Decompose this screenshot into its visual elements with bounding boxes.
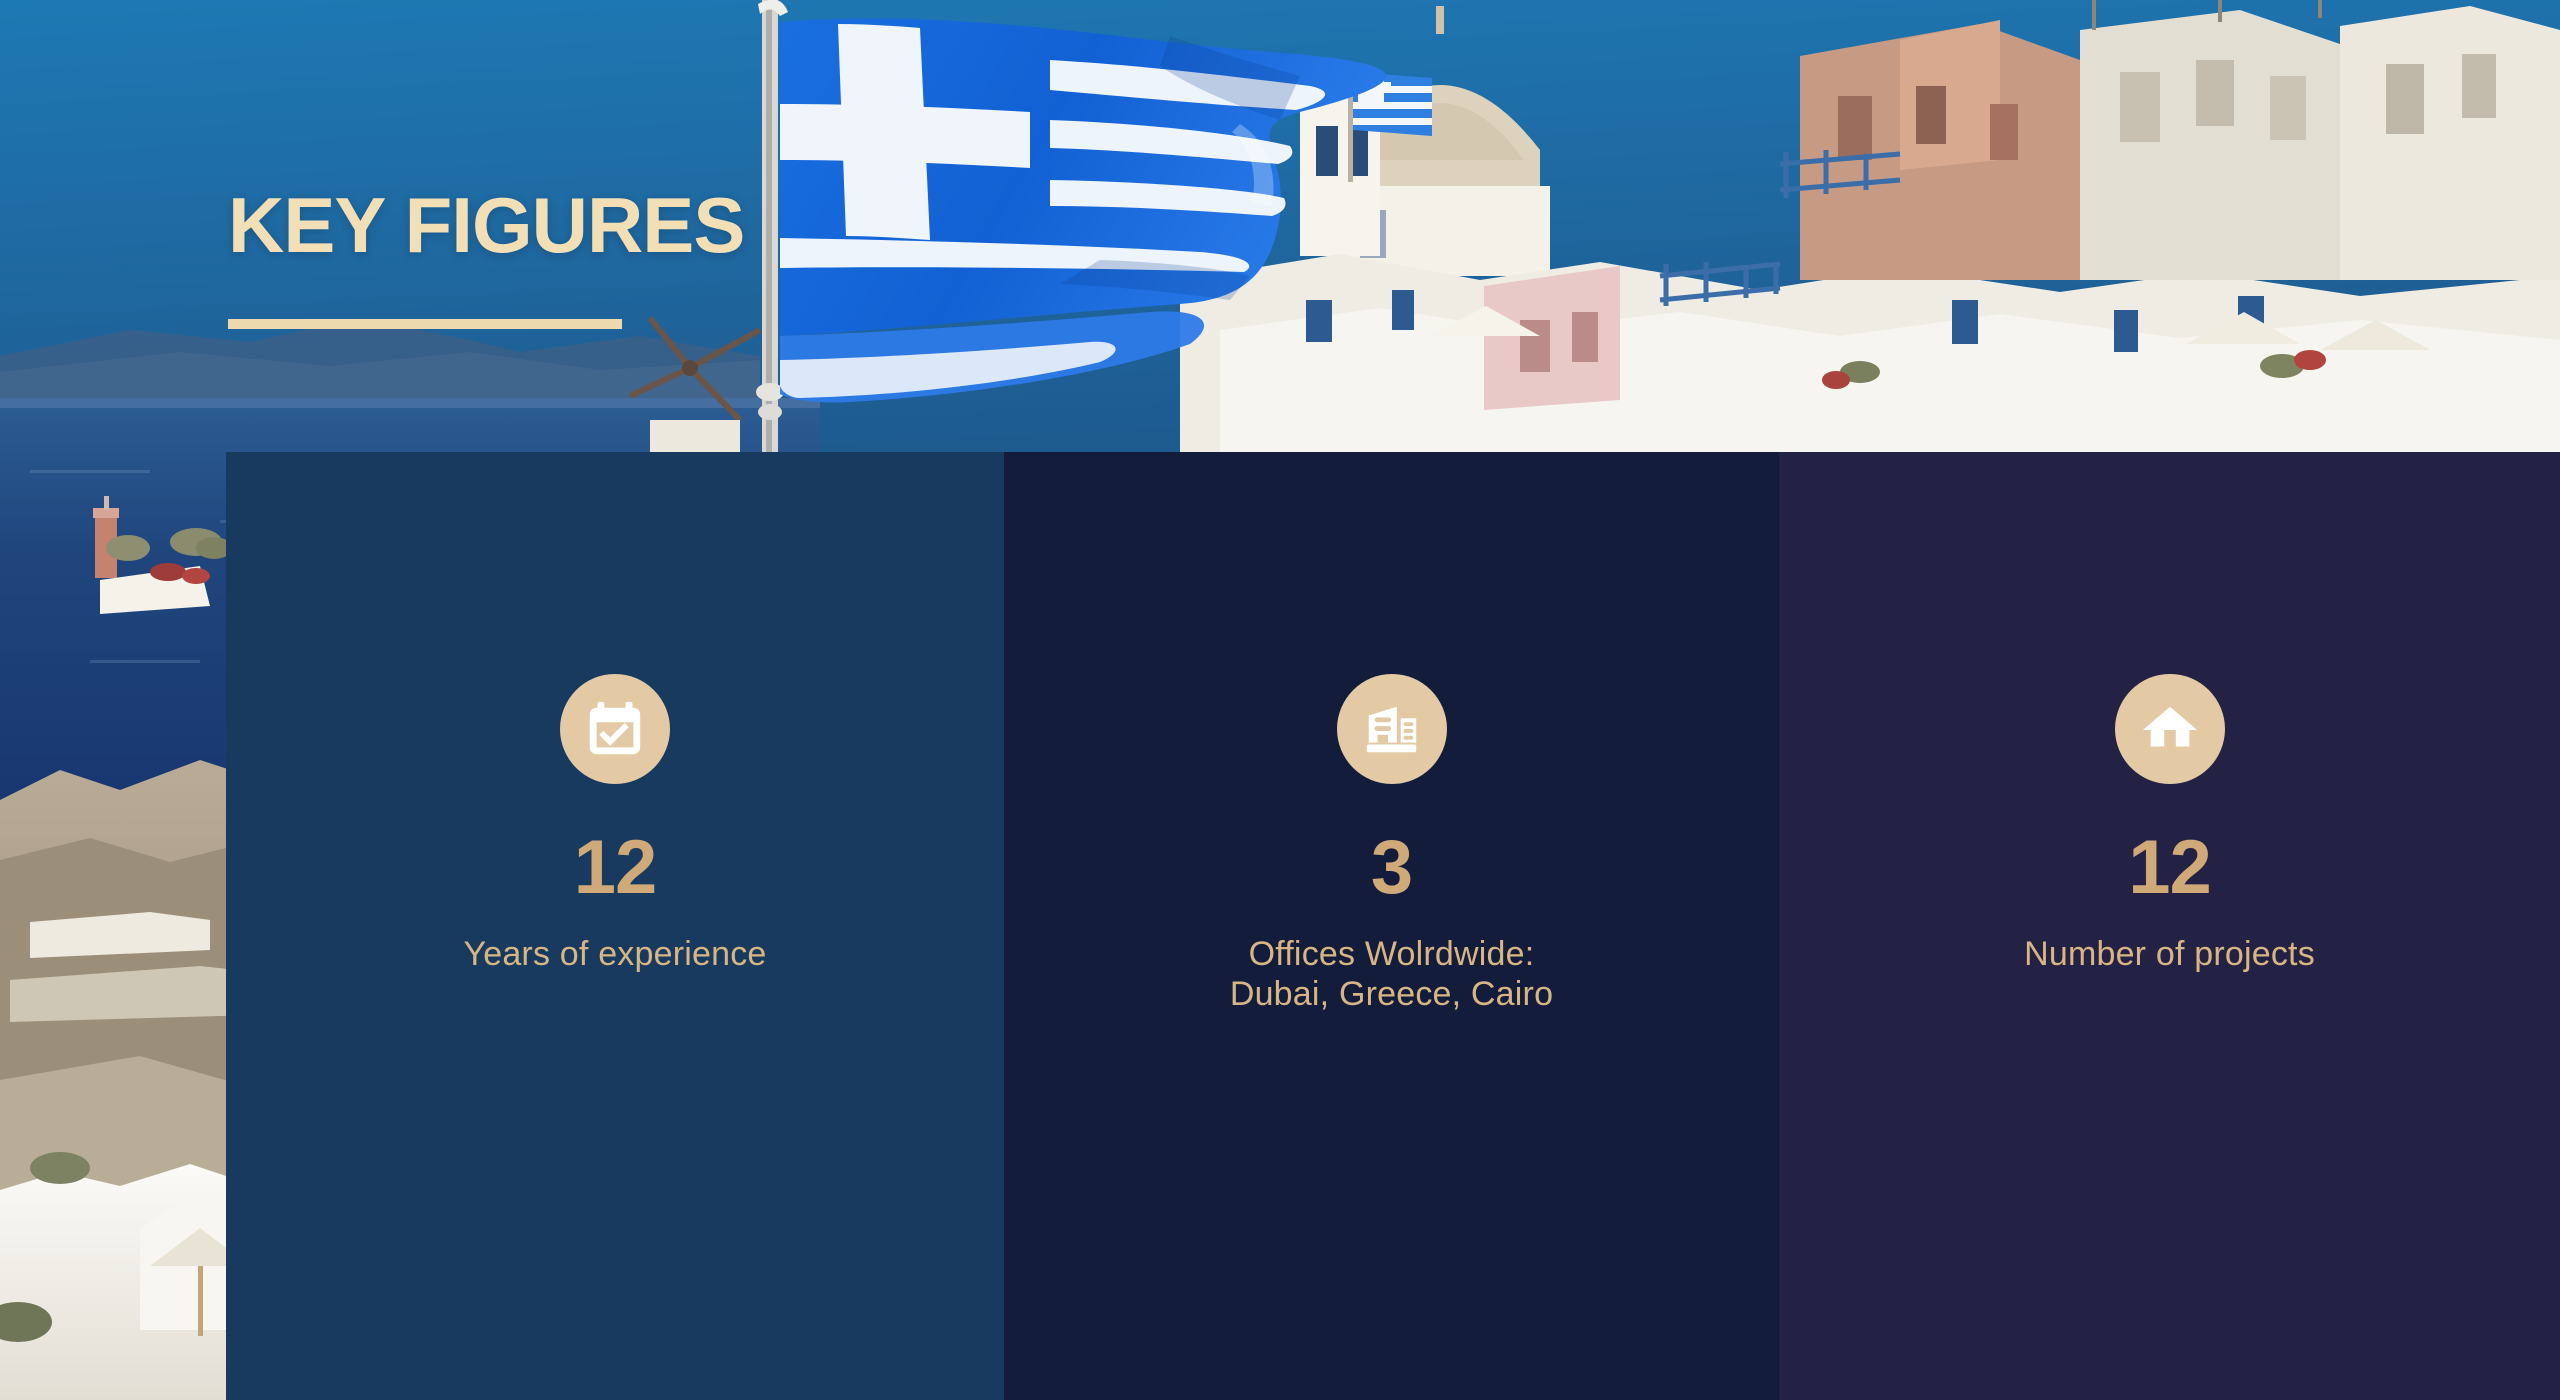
stat-number: 3 <box>1371 830 1412 906</box>
calendar-check-icon <box>560 674 670 784</box>
stat-label: Number of projects <box>2024 934 2315 974</box>
stat-label: Offices Wolrdwide: Dubai, Greece, Cairo <box>1230 934 1553 1014</box>
stat-label-line: Dubai, Greece, Cairo <box>1230 974 1553 1014</box>
key-figures-cards: 12 Years of experience <box>226 452 2560 1400</box>
stat-label: Years of experience <box>463 934 766 974</box>
key-figures-section: KEY FIGURES 12 Years of experience <box>0 0 2560 1400</box>
stat-label-line: Number of projects <box>2024 934 2315 974</box>
stat-label-line: Years of experience <box>463 934 766 974</box>
stat-card-years-of-experience[interactable]: 12 Years of experience <box>226 452 1004 1400</box>
page-title: KEY FIGURES <box>228 186 744 264</box>
stat-number: 12 <box>2128 830 2211 906</box>
home-icon <box>2115 674 2225 784</box>
stat-label-line: Offices Wolrdwide: <box>1230 934 1553 974</box>
section-heading: KEY FIGURES <box>228 186 744 329</box>
stat-card-number-of-projects[interactable]: 12 Number of projects <box>1779 452 2560 1400</box>
office-buildings-icon <box>1337 674 1447 784</box>
title-underline-rule <box>228 319 622 329</box>
stat-number: 12 <box>574 830 657 906</box>
stat-card-offices-worldwide[interactable]: 3 Offices Wolrdwide: Dubai, Greece, Cair… <box>1004 452 1779 1400</box>
